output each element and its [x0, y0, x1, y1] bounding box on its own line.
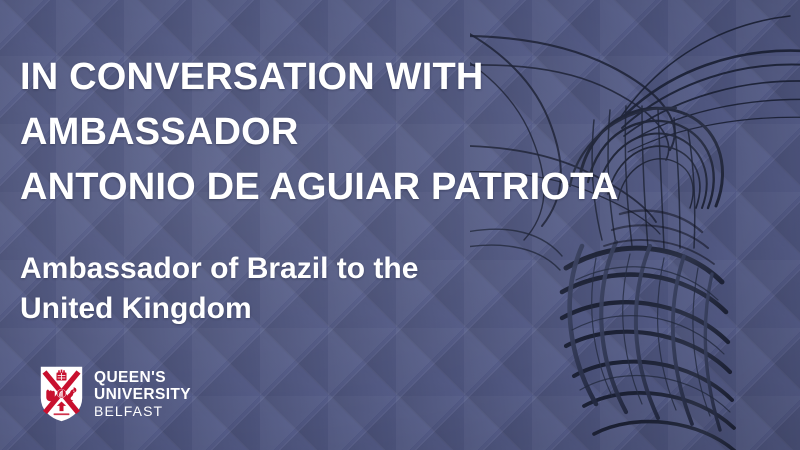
page-subtitle: Ambassador of Brazil to the United Kingd…	[20, 249, 740, 329]
logo-line-belfast: BELFAST	[94, 404, 191, 418]
presentation-slide: IN CONVERSATION WITH AMBASSADOR ANTONIO …	[0, 0, 800, 450]
queens-university-belfast-logo: QUEEN'S UNIVERSITY BELFAST	[40, 366, 191, 422]
queens-university-crest-icon	[40, 366, 83, 422]
page-title: IN CONVERSATION WITH AMBASSADOR ANTONIO …	[20, 50, 740, 215]
logo-wordmark: QUEEN'S UNIVERSITY BELFAST	[94, 370, 191, 418]
slide-text-block: IN CONVERSATION WITH AMBASSADOR ANTONIO …	[20, 50, 740, 329]
logo-line-queens: QUEEN'S	[94, 370, 191, 386]
logo-line-university: UNIVERSITY	[94, 387, 191, 403]
